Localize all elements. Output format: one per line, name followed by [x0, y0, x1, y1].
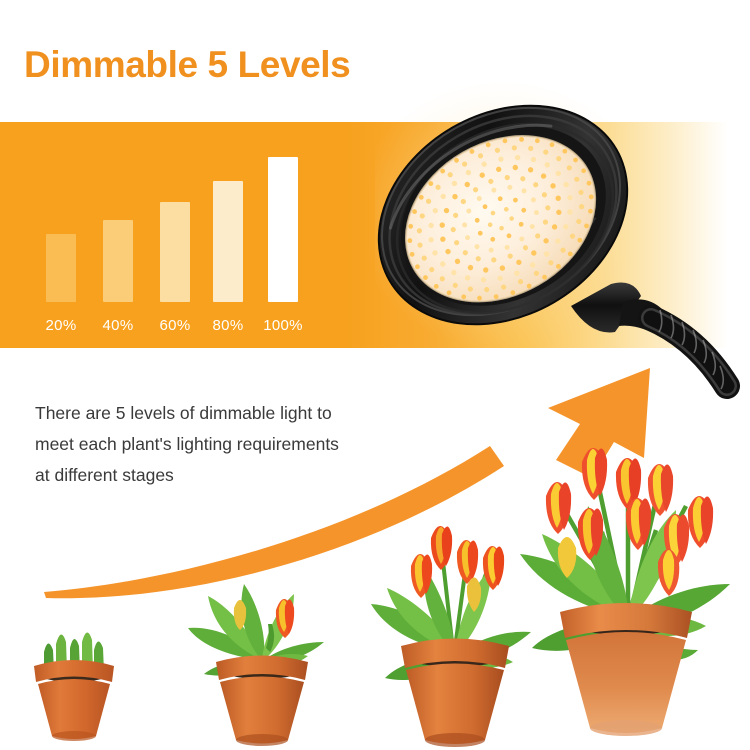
- bar-40: [103, 220, 133, 302]
- bar-100: [268, 157, 298, 302]
- product-feature-image: Dimmable 5 Levels 20% 40% 60% 80% 100%: [0, 0, 750, 750]
- pot-body: [38, 679, 110, 739]
- pot-body: [566, 632, 686, 733]
- bar-60: [160, 202, 190, 302]
- plant-stage-1: [18, 600, 138, 750]
- bar-20: [46, 234, 76, 302]
- bar-label-20: 20%: [30, 317, 92, 334]
- bar-label-40: 40%: [87, 317, 149, 334]
- bar-label-100: 100%: [252, 317, 314, 334]
- brightness-level-bar-chart: 20% 40% 60% 80% 100%: [0, 122, 360, 348]
- pot-body: [220, 677, 304, 744]
- pot-body: [406, 664, 504, 745]
- plant-stage-2: [180, 550, 340, 750]
- bar-80: [213, 181, 243, 302]
- plant-stage-4: [498, 420, 750, 750]
- bar-label-80: 80%: [197, 317, 259, 334]
- page-title: Dimmable 5 Levels: [24, 44, 350, 86]
- flower-buds: [411, 526, 504, 612]
